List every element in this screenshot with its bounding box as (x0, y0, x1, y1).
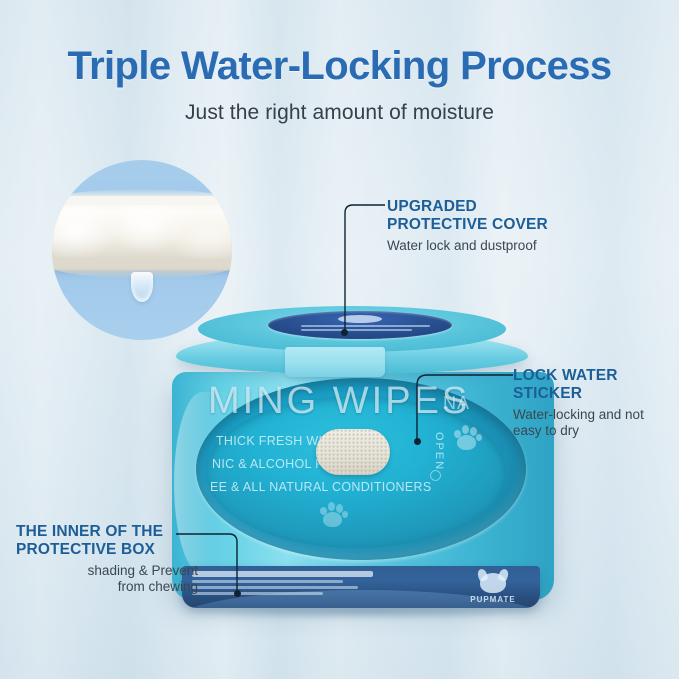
leader-dot-inner-box (234, 590, 241, 597)
infographic-canvas: Triple Water-Locking Process Just the ri… (0, 0, 679, 679)
callout-inner-protective-box: THE INNER OF THE PROTECTIVE BOX shading … (16, 523, 198, 595)
protruding-wipe-sheet (316, 429, 390, 475)
callout-heading: LOCK WATER STICKER (513, 367, 673, 404)
callout-heading: UPGRADED PROTECTIVE COVER (387, 198, 597, 235)
callout-subtext-line-2: easy to dry (513, 423, 579, 438)
callout-subtext-line-2: from chewing (118, 579, 198, 594)
callout-upgraded-protective-cover: UPGRADED PROTECTIVE COVER Water lock and… (387, 198, 597, 254)
brand-logo: PUPMATE (460, 573, 526, 604)
callout-subtext: Water lock and dustproof (387, 238, 597, 254)
paw-print-icon (318, 500, 348, 530)
dog-face-icon (480, 573, 506, 593)
callout-heading-line-1: THE INNER OF THE (16, 523, 163, 540)
leader-dot-sticker (414, 438, 421, 445)
callout-heading: THE INNER OF THE PROTECTIVE BOX (16, 523, 198, 560)
lid-pull-tab[interactable] (285, 347, 385, 377)
leader-line-sticker (411, 374, 515, 444)
callout-subtext: Water-locking and not easy to dry (513, 407, 673, 439)
callout-subtext-line-1: Water-locking and not (513, 407, 644, 422)
callout-lock-water-sticker: LOCK WATER STICKER Water-locking and not… (513, 367, 673, 439)
callout-heading-line-2: PROTECTIVE BOX (16, 541, 155, 558)
callout-subtext: shading & Prevent from chewing (16, 563, 198, 595)
callout-heading-line-2: PROTECTIVE COVER (387, 216, 548, 233)
callout-heading-line-1: LOCK WATER (513, 367, 618, 384)
leader-line-cover (341, 204, 391, 334)
tub-emboss-mark (430, 470, 441, 481)
callout-heading-line-2: STICKER (513, 385, 582, 402)
callout-heading-line-1: UPGRADED (387, 198, 477, 215)
brand-name: PUPMATE (460, 595, 526, 604)
leader-dot-cover (341, 329, 348, 336)
callout-subtext-line-1: shading & Prevent (88, 563, 198, 578)
